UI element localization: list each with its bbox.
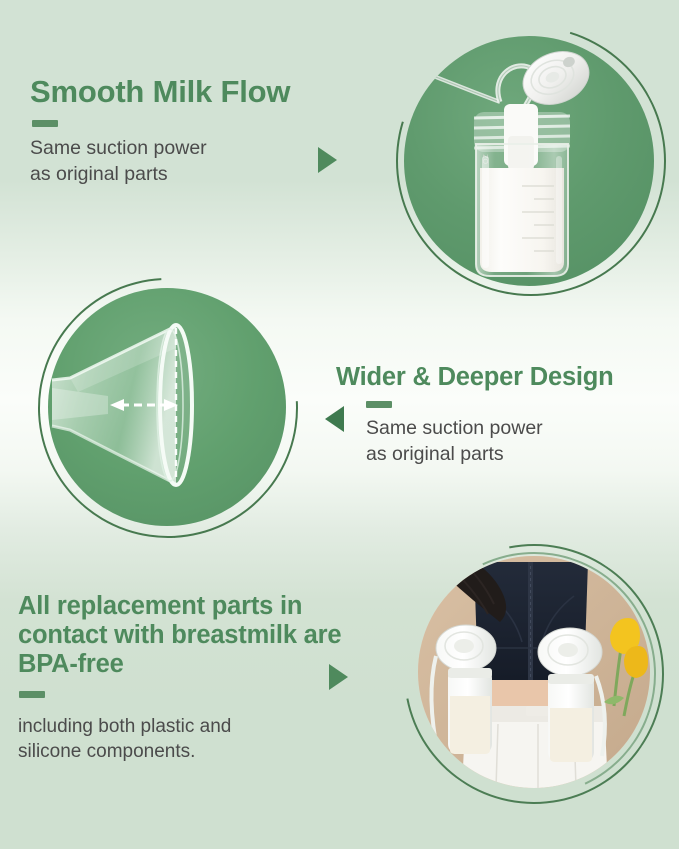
triangle-right-icon <box>329 664 348 690</box>
section-1-headline: Smooth Milk Flow <box>30 74 360 109</box>
section-wider-deeper-design: Wider & Deeper Design Same suction power… <box>336 363 672 468</box>
section-bpa-free: All replacement parts in contact with br… <box>18 592 378 764</box>
section-2-subtext: Same suction power as original parts <box>366 416 672 467</box>
product-feature-poster: OZ Smooth Milk Flow Same suction power a… <box>0 0 679 849</box>
breast-shield-flange-photo <box>48 288 286 526</box>
section-smooth-milk-flow: Smooth Milk Flow Same suction power as o… <box>30 74 360 188</box>
section-1-accent-dash <box>32 120 58 127</box>
section-2-accent-dash <box>366 401 392 408</box>
triangle-left-icon <box>325 406 344 432</box>
mother-wearing-pump-photo <box>418 556 650 788</box>
triangle-right-icon <box>318 147 337 173</box>
breast-pump-bottle-photo: OZ <box>404 36 654 286</box>
section-1-subtext: Same suction power as original parts <box>30 136 360 187</box>
section-2-headline: Wider & Deeper Design <box>336 363 672 392</box>
section-3-headline: All replacement parts in contact with br… <box>18 592 378 679</box>
section-3-accent-dash <box>19 691 45 698</box>
section-3-subtext: including both plastic and silicone comp… <box>18 714 378 764</box>
